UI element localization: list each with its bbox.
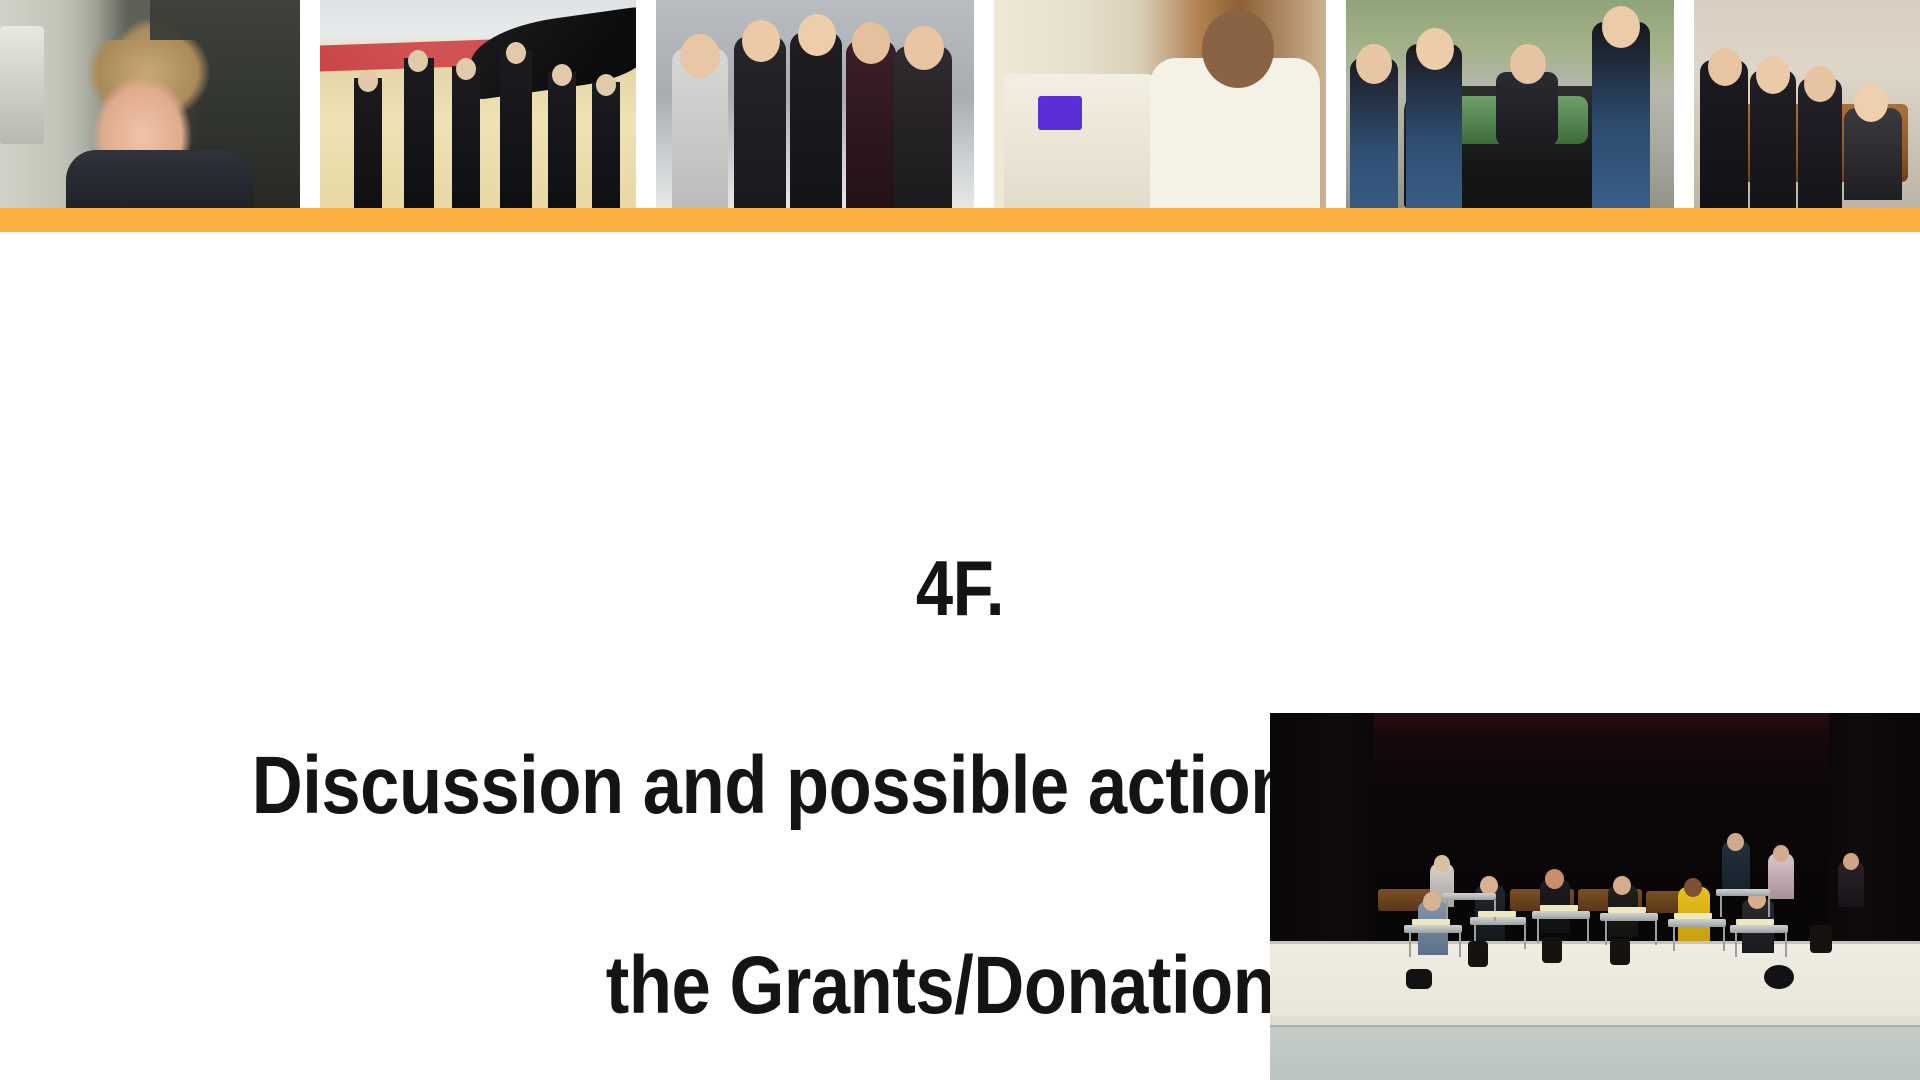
chair bbox=[1610, 939, 1630, 965]
chair bbox=[1542, 937, 1562, 963]
orange-accent-divider bbox=[0, 208, 1920, 232]
banner-photo-locker-student bbox=[0, 0, 300, 208]
agenda-papers bbox=[1674, 913, 1712, 919]
agenda-papers bbox=[1736, 919, 1774, 925]
agenda-papers bbox=[1412, 919, 1450, 925]
meeting-desk bbox=[1668, 919, 1726, 927]
banner-photo-hospital-gown-student bbox=[994, 0, 1326, 208]
purple-bin bbox=[1038, 96, 1082, 130]
meeting-desk bbox=[1716, 889, 1770, 896]
board-member-head bbox=[1423, 892, 1441, 911]
photo-subject-body bbox=[66, 150, 254, 208]
bag bbox=[1764, 965, 1794, 989]
photo-subject-face bbox=[1202, 10, 1274, 88]
board-member-head bbox=[1613, 876, 1631, 895]
banner-photo-classic-car bbox=[1346, 0, 1674, 208]
board-member-head bbox=[1843, 853, 1859, 870]
agenda-papers bbox=[1478, 911, 1516, 917]
stage-apron bbox=[1270, 1025, 1920, 1080]
board-meeting-video-overlay[interactable] bbox=[1270, 713, 1920, 1080]
photo-divider bbox=[636, 0, 656, 208]
stage-curtain-right bbox=[1829, 713, 1920, 955]
photo-divider bbox=[1326, 0, 1346, 208]
banner-photo-band-choir bbox=[320, 0, 636, 208]
banner-photo-figure-skaters bbox=[656, 0, 974, 208]
agenda-item-number: 4F. bbox=[134, 540, 1785, 636]
photo-divider bbox=[1674, 0, 1694, 208]
board-member-head bbox=[1727, 833, 1744, 851]
meeting-desk bbox=[1532, 911, 1590, 919]
photo-divider bbox=[300, 0, 320, 208]
banner-photo-piano-hallway bbox=[1694, 0, 1920, 208]
photo-divider bbox=[974, 0, 994, 208]
stage-curtain-left bbox=[1270, 713, 1374, 955]
meeting-desk bbox=[1404, 925, 1462, 933]
photo-collage-banner bbox=[0, 0, 1920, 208]
board-member-head bbox=[1773, 845, 1789, 862]
chair bbox=[1468, 941, 1488, 967]
meeting-desk bbox=[1730, 925, 1788, 933]
board-member-head bbox=[1545, 869, 1564, 889]
agenda-papers bbox=[1608, 907, 1646, 913]
meeting-desk bbox=[1442, 893, 1496, 900]
chair bbox=[1810, 925, 1832, 953]
bag bbox=[1406, 969, 1432, 989]
meeting-desk bbox=[1600, 913, 1658, 921]
presentation-slide-stage: 4F. Discussion and possible action to ap… bbox=[0, 0, 1920, 1080]
board-member-head bbox=[1434, 855, 1450, 872]
classroom-cabinet bbox=[1004, 74, 1152, 208]
agenda-papers bbox=[1540, 905, 1578, 911]
board-member-head bbox=[1684, 878, 1702, 897]
